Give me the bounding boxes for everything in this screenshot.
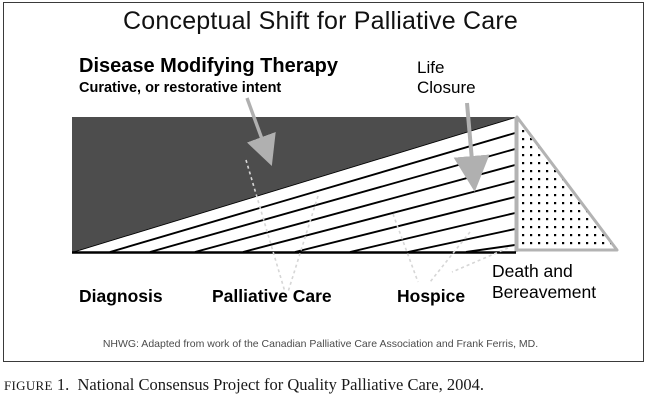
bereavement-triangle [517,117,617,250]
stage-label-palliative-care: Palliative Care [212,286,332,306]
stage-label-hospice: Hospice [397,286,465,306]
figure-caption: FIGURE 1. National Consensus Project for… [4,374,644,397]
life-closure-line-1: Life [417,58,476,78]
life-closure-line-2: Closure [417,78,476,98]
disease-modifying-therapy-heading: Disease Modifying Therapy [79,55,338,78]
caption-number: 1. [57,375,69,394]
stage-label-diagnosis: Diagnosis [79,286,163,306]
curative-intent-subheading: Curative, or restorative intent [79,80,281,97]
life-closure-label: Life Closure [417,58,476,98]
stage-label-death-and-bereavement: Death and Bereavement [492,261,596,303]
death-label-line-1: Death and [492,261,596,282]
caption-prefix: FIGURE [4,378,53,393]
death-label-line-2: Bereavement [492,282,596,303]
conceptual-shift-diagram [0,0,641,360]
attribution-note: NHWG: Adapted from work of the Canadian … [0,338,641,351]
caption-text: National Consensus Project for Quality P… [78,375,484,394]
